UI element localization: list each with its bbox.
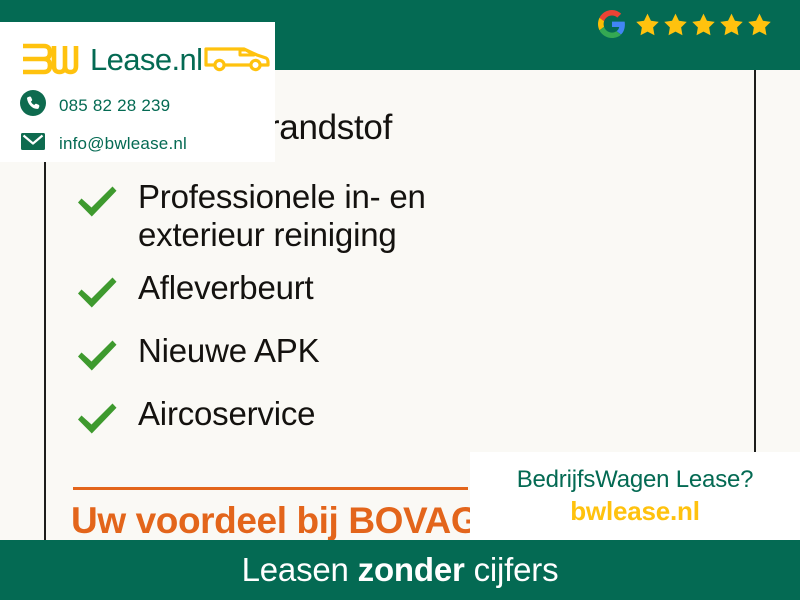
- star-icon: [747, 12, 772, 37]
- list-item: Afleverbeurt: [74, 269, 634, 318]
- cta-question: BedrijfsWagen Lease?: [517, 466, 754, 494]
- contact-email[interactable]: info@bwlease.nl: [20, 128, 259, 159]
- check-icon: [74, 178, 120, 227]
- banner-prefix: Leasen: [242, 551, 358, 588]
- logo-lockup: Lease.nl: [20, 36, 259, 82]
- star-icon: [719, 12, 744, 37]
- banner-emphasis: zonder: [358, 551, 465, 588]
- list-item-label: Aircoservice: [138, 395, 315, 433]
- contact-details: 085 82 28 239 info@bwlease.nl: [20, 90, 259, 159]
- list-item-label: Afleverbeurt: [138, 269, 314, 307]
- logo-wordmark: Lease.nl: [90, 44, 202, 75]
- google-rating[interactable]: [598, 10, 772, 38]
- cta-url[interactable]: bwlease.nl: [570, 496, 700, 527]
- list-item: Nieuwe APK: [74, 332, 634, 381]
- van-icon: [204, 41, 270, 78]
- section-heading-orange: Uw voordeel bij BOVAG: [71, 500, 491, 540]
- email-address: info@bwlease.nl: [59, 134, 187, 154]
- check-icon: [74, 332, 120, 381]
- section-divider: [73, 487, 468, 490]
- google-g-icon: [598, 10, 626, 38]
- contact-phone[interactable]: 085 82 28 239: [20, 90, 259, 121]
- brand-logo-card[interactable]: Lease.nl 085 82 28 239: [0, 22, 275, 162]
- list-item: Professionele in- en exterieur reiniging: [74, 178, 634, 255]
- envelope-icon: [20, 128, 46, 159]
- bottom-banner: Leasen zonder cijfers: [0, 540, 800, 600]
- feature-checklist: Professionele in- en exterieur reiniging…: [74, 178, 634, 458]
- check-icon: [74, 395, 120, 444]
- list-item: Aircoservice: [74, 395, 634, 444]
- check-icon: [74, 269, 120, 318]
- cta-card[interactable]: BedrijfsWagen Lease? bwlease.nl: [470, 452, 800, 540]
- list-item-label: Nieuwe APK: [138, 332, 319, 370]
- advertisement-canvas: al ¼ tank brandstof Professionele in- en…: [0, 0, 800, 600]
- star-icon: [691, 12, 716, 37]
- bw-monogram-icon: [20, 42, 82, 76]
- list-item-label: Professionele in- en exterieur reiniging: [138, 178, 498, 255]
- star-icon: [635, 12, 660, 37]
- phone-icon: [20, 90, 46, 121]
- phone-number: 085 82 28 239: [59, 96, 170, 116]
- star-rating: [635, 12, 772, 37]
- banner-tagline: Leasen zonder cijfers: [242, 551, 559, 589]
- banner-suffix: cijfers: [465, 551, 559, 588]
- star-icon: [663, 12, 688, 37]
